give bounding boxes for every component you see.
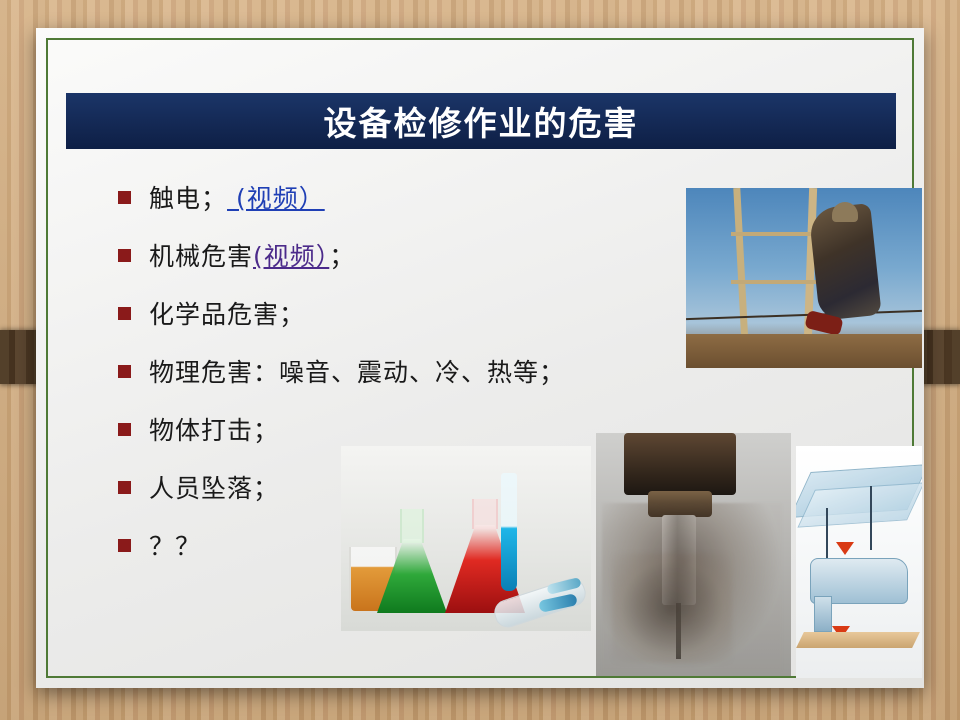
- guide-needle: [870, 486, 872, 550]
- square-bullet-icon: [118, 249, 131, 262]
- bullet-mechanical-hazard: 机械危害(视频）；: [92, 226, 732, 284]
- tower-climber-photo: [686, 188, 922, 368]
- bullet-text: 物理危害：噪音、震动、冷、热等；: [149, 353, 565, 389]
- smoke-plume: [612, 553, 732, 663]
- bullet-text: 人员坠落；: [149, 469, 279, 505]
- bullet-electric-shock: 触电； (视频）: [92, 168, 732, 226]
- drill-head: [624, 433, 736, 495]
- chemical-glassware-photo: [341, 446, 591, 631]
- wood-board: [796, 632, 920, 648]
- drilling-machine-photo: [596, 433, 791, 676]
- video-link[interactable]: (视频）: [253, 242, 329, 271]
- bullet-text: 物体打击；: [149, 411, 279, 447]
- bullet-segment-text: 触电；: [149, 184, 227, 213]
- square-bullet-icon: [118, 365, 131, 378]
- worker-helmet: [832, 202, 858, 222]
- bullet-text: ？？: [149, 527, 201, 563]
- ground-strip: [686, 334, 922, 368]
- bullet-segment-text: ；: [329, 242, 355, 271]
- square-bullet-icon: [118, 307, 131, 320]
- square-bullet-icon: [118, 539, 131, 552]
- bullet-text: 触电； (视频）: [149, 179, 325, 215]
- bullet-physical-hazard: 物理危害：噪音、震动、冷、热等；: [92, 342, 732, 400]
- slide-title-bar: 设备检修作业的危害: [66, 93, 896, 149]
- bullet-segment-text: 机械危害: [149, 242, 253, 271]
- square-bullet-icon: [118, 423, 131, 436]
- workpiece-plate: [797, 482, 922, 527]
- page-title: 设备检修作业的危害: [324, 97, 639, 145]
- nail-gun-illustration: [796, 446, 922, 678]
- slide-card: 设备检修作业的危害 触电； (视频） 机械危害(视频）； 化学品危害； 物理危害…: [36, 28, 924, 688]
- bullet-chemical-hazard: 化学品危害；: [92, 284, 732, 342]
- impact-marker-icon: [836, 542, 854, 555]
- tower-crossbeam: [731, 232, 821, 236]
- nail-gun-nose: [814, 596, 832, 632]
- red-flask-neck: [472, 499, 498, 529]
- bullet-text: 化学品危害；: [149, 295, 305, 331]
- square-bullet-icon: [118, 481, 131, 494]
- guide-needle: [826, 508, 828, 560]
- blue-test-tube: [501, 473, 517, 591]
- slide-canvas: 设备检修作业的危害 触电； (视频） 机械危害(视频）； 化学品危害； 物理危害…: [0, 0, 960, 720]
- bullet-text: 机械危害(视频）；: [149, 237, 355, 273]
- square-bullet-icon: [118, 191, 131, 204]
- green-flask-neck: [400, 509, 424, 543]
- video-link[interactable]: (视频）: [227, 184, 325, 213]
- tower-crossbeam: [731, 280, 821, 284]
